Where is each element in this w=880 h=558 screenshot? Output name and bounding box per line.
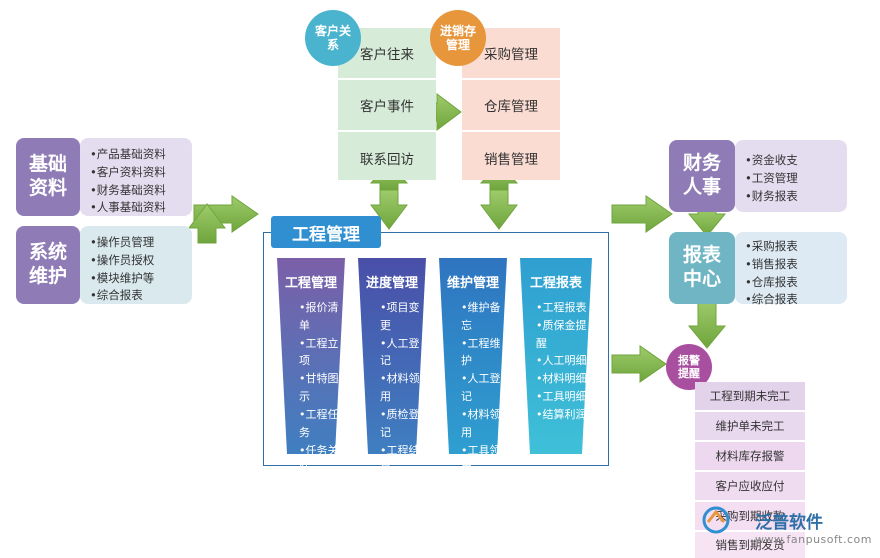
- left-block-title-1[interactable]: 系统 维护: [16, 226, 80, 304]
- alert-item[interactable]: 客户应收应付: [695, 472, 805, 502]
- list-item: 操作员授权: [90, 252, 186, 270]
- list-item: 材料领用: [461, 406, 507, 442]
- list-item: 甘特图示: [299, 370, 345, 406]
- purchase-sale-stock-circle[interactable]: 进销存 管理: [430, 10, 486, 66]
- list-item: 采购报表: [745, 238, 841, 256]
- diagram-canvas: 基础 资料 产品基础资料 客户资料资料 财务基础资料 人事基础资料 系统 维护 …: [0, 0, 880, 552]
- right-block-items-1: 采购报表 销售报表 仓库报表 综合报表: [735, 232, 847, 304]
- list-item: 工程维护: [461, 335, 507, 371]
- alert-circle-text: 报警 提醒: [678, 354, 700, 380]
- column-head: 工程报表: [520, 272, 592, 291]
- engineering-column-2-text: 维护管理 维护备忘 工程维护 人工登记 材料领用 工具领用 维护结算: [439, 272, 507, 513]
- right-block-title-1-text: 报表 中心: [683, 244, 721, 292]
- list-item: 报价清单: [299, 299, 345, 335]
- engineering-column-2[interactable]: 维护管理 维护备忘 工程维护 人工登记 材料领用 工具领用 维护结算: [439, 258, 507, 454]
- watermark-title: 泛普软件: [755, 508, 872, 533]
- alert-item[interactable]: 维护单未完工: [695, 412, 805, 442]
- stack-cell[interactable]: 客户事件: [338, 80, 436, 132]
- column-list: 报价清单 工程立项 甘特图示 工程任务 任务关联 图纸管理: [277, 299, 345, 513]
- customer-relation-circle-text: 客户关 系: [315, 24, 351, 53]
- list-item: 维护备忘: [461, 299, 507, 335]
- watermark: 泛普软件 www.fanpusoft.com: [755, 508, 872, 546]
- engineering-column-1[interactable]: 进度管理 项目变更 人工登记 材料领用 质检登记 工程结算: [358, 258, 426, 454]
- engineering-title-text: 工程管理: [292, 220, 360, 245]
- left-block-title-0[interactable]: 基础 资料: [16, 138, 80, 216]
- list-item: 客户资料资料: [90, 164, 186, 182]
- right-block-items-0: 资金收支 工资管理 财务报表: [735, 140, 847, 212]
- customer-relation-circle[interactable]: 客户关 系: [305, 10, 361, 66]
- right-block-title-1[interactable]: 报表 中心: [669, 232, 735, 304]
- list-item: 模块维护等: [90, 270, 186, 288]
- list-item: 产品基础资料: [90, 146, 186, 164]
- watermark-url: www.fanpusoft.com: [755, 533, 872, 546]
- left-block-items-0: 产品基础资料 客户资料资料 财务基础资料 人事基础资料: [80, 138, 192, 216]
- list-item: 人工明细: [536, 352, 592, 370]
- alert-item[interactable]: 材料库存报警: [695, 442, 805, 472]
- list-item: 人工登记: [461, 370, 507, 406]
- list-item: 维护结算: [461, 477, 507, 513]
- engineering-column-1-text: 进度管理 项目变更 人工登记 材料领用 质检登记 工程结算: [358, 272, 426, 477]
- column-head: 维护管理: [439, 272, 507, 291]
- left-block-title-1-text: 系统 维护: [29, 241, 67, 289]
- list-item: 人工登记: [380, 335, 426, 371]
- purchase-sale-stock-circle-text: 进销存 管理: [440, 24, 476, 53]
- list-item: 资金收支: [745, 152, 841, 170]
- list-item: 综合报表: [90, 287, 186, 305]
- column-head: 进度管理: [358, 272, 426, 291]
- stack-cell[interactable]: 仓库管理: [462, 80, 560, 132]
- list-item: 工程报表: [536, 299, 592, 317]
- list-item: 销售报表: [745, 256, 841, 274]
- list-item: 工具领用: [461, 442, 507, 478]
- list-item: 工具明细: [536, 388, 592, 406]
- list-item: 综合报表: [745, 291, 841, 309]
- list-item: 任务关联: [299, 442, 345, 478]
- list-item: 工程立项: [299, 335, 345, 371]
- list-item: 材料明细: [536, 370, 592, 388]
- list-item: 工程结算: [380, 442, 426, 478]
- list-item: 材料领用: [380, 370, 426, 406]
- list-item: 工资管理: [745, 170, 841, 188]
- engineering-column-0-text: 工程管理 报价清单 工程立项 甘特图示 工程任务 任务关联 图纸管理: [277, 272, 345, 513]
- column-list: 维护备忘 工程维护 人工登记 材料领用 工具领用 维护结算: [439, 299, 507, 513]
- list-item: 财务基础资料: [90, 182, 186, 200]
- list-item: 图纸管理: [299, 477, 345, 513]
- column-list: 项目变更 人工登记 材料领用 质检登记 工程结算: [358, 299, 426, 477]
- list-item: 操作员管理: [90, 234, 186, 252]
- list-item: 项目变更: [380, 299, 426, 335]
- alert-item[interactable]: 工程到期未完工: [695, 382, 805, 412]
- right-block-title-0-text: 财务 人事: [683, 152, 721, 200]
- left-block-items-1: 操作员管理 操作员授权 模块维护等 综合报表: [80, 226, 192, 304]
- engineering-title[interactable]: 工程管理: [271, 216, 381, 248]
- right-block-title-0[interactable]: 财务 人事: [669, 140, 735, 212]
- left-block-title-0-text: 基础 资料: [29, 153, 67, 201]
- brand-logo-icon: [702, 506, 730, 534]
- list-item: 质检登记: [380, 406, 426, 442]
- list-item: 工程任务: [299, 406, 345, 442]
- column-head: 工程管理: [277, 272, 345, 291]
- list-item: 质保金提醒: [536, 317, 592, 353]
- list-item: 仓库报表: [745, 274, 841, 292]
- engineering-column-0[interactable]: 工程管理 报价清单 工程立项 甘特图示 工程任务 任务关联 图纸管理: [277, 258, 345, 454]
- list-item: 结算利润: [536, 406, 592, 424]
- list-item: 人事基础资料: [90, 199, 186, 217]
- list-item: 财务报表: [745, 188, 841, 206]
- stack-cell[interactable]: 销售管理: [462, 132, 560, 184]
- engineering-column-3-text: 工程报表 工程报表 质保金提醒 人工明细 材料明细 工具明细 结算利润: [520, 272, 592, 424]
- stack-cell[interactable]: 联系回访: [338, 132, 436, 184]
- column-list: 工程报表 质保金提醒 人工明细 材料明细 工具明细 结算利润: [520, 299, 592, 424]
- engineering-column-3[interactable]: 工程报表 工程报表 质保金提醒 人工明细 材料明细 工具明细 结算利润: [520, 258, 592, 454]
